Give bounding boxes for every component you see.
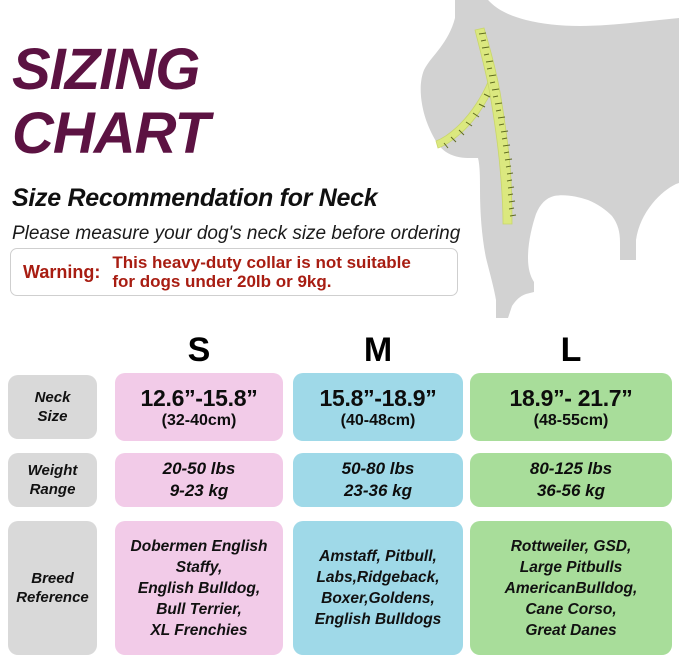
neck-size-range-medium: 15.8”-18.9” bbox=[320, 385, 437, 411]
header-block: SIZING CHART Size Recommendation for Nec… bbox=[0, 0, 470, 245]
table-row-weight-range: Weight Range 20-50 lbs 9-23 kg 50-80 lbs… bbox=[0, 453, 679, 521]
size-header-row: S M L bbox=[0, 332, 679, 372]
cell-breed-reference-large: Rottweiler, GSD, Large Pitbulls American… bbox=[470, 521, 672, 655]
row-label-neck-size: Neck Size bbox=[8, 375, 97, 439]
weight-kg-small: 9-23 kg bbox=[170, 480, 229, 502]
instruction-text: Please measure your dog's neck size befo… bbox=[0, 213, 470, 245]
warning-box: Warning: This heavy-duty collar is not s… bbox=[10, 248, 458, 296]
size-header-s: S bbox=[115, 332, 283, 368]
breed-line: Boxer,Goldens, bbox=[321, 588, 435, 609]
neck-size-metric-medium: (40-48cm) bbox=[341, 411, 416, 430]
breed-line: Cane Corso, bbox=[525, 599, 616, 620]
breed-line: Dobermen English bbox=[131, 536, 268, 557]
breed-line: Labs,Ridgeback, bbox=[316, 567, 439, 588]
row-label-line2: Reference bbox=[16, 588, 89, 607]
cell-neck-size-small: 12.6”-15.8” (32-40cm) bbox=[115, 373, 283, 441]
breed-line: English Bulldogs bbox=[315, 609, 442, 630]
cell-weight-range-medium: 50-80 lbs 23-36 kg bbox=[293, 453, 463, 507]
cell-neck-size-medium: 15.8”-18.9” (40-48cm) bbox=[293, 373, 463, 441]
weight-kg-medium: 23-36 kg bbox=[344, 480, 412, 502]
row-label-line2: Range bbox=[30, 480, 76, 499]
breed-line: Large Pitbulls bbox=[520, 557, 623, 578]
breed-line: Staffy, bbox=[176, 557, 223, 578]
breed-line: Rottweiler, GSD, bbox=[511, 536, 632, 557]
size-header-m: M bbox=[293, 332, 463, 368]
weight-kg-large: 36-56 kg bbox=[537, 480, 605, 502]
row-label-weight-range: Weight Range bbox=[8, 453, 97, 507]
table-row-breed-reference: Breed Reference Dobermen English Staffy,… bbox=[0, 521, 679, 661]
subtitle: Size Recommendation for Neck bbox=[0, 164, 470, 213]
row-label-line1: Weight bbox=[28, 461, 78, 480]
warning-message-line1: This heavy-duty collar is not suitable bbox=[112, 253, 411, 272]
warning-message-line2: for dogs under 20lb or 9kg. bbox=[112, 272, 411, 291]
neck-size-metric-large: (48-55cm) bbox=[534, 411, 609, 430]
breed-line: Amstaff, Pitbull, bbox=[319, 546, 437, 567]
table-row-neck-size: Neck Size 12.6”-15.8” (32-40cm) 15.8”-18… bbox=[0, 373, 679, 453]
row-label-line1: Breed bbox=[31, 569, 74, 588]
row-label-line1: Neck bbox=[35, 388, 71, 407]
page-title-line1: SIZING bbox=[0, 0, 470, 100]
breed-line: Bull Terrier, bbox=[156, 599, 242, 620]
neck-size-range-small: 12.6”-15.8” bbox=[141, 385, 258, 411]
row-label-breed-reference: Breed Reference bbox=[8, 521, 97, 655]
size-header-l: L bbox=[470, 332, 672, 368]
breed-line: English Bulldog, bbox=[138, 578, 260, 599]
neck-size-metric-small: (32-40cm) bbox=[162, 411, 237, 430]
page-title-line2: CHART bbox=[0, 100, 470, 164]
cell-breed-reference-medium: Amstaff, Pitbull, Labs,Ridgeback, Boxer,… bbox=[293, 521, 463, 655]
row-label-line2: Size bbox=[37, 407, 67, 426]
weight-lbs-large: 80-125 lbs bbox=[530, 458, 612, 480]
breed-line: Great Danes bbox=[525, 620, 616, 641]
warning-label: Warning: bbox=[11, 262, 100, 283]
breed-line: XL Frenchies bbox=[150, 620, 247, 641]
sizing-table: Neck Size 12.6”-15.8” (32-40cm) 15.8”-18… bbox=[0, 373, 679, 661]
warning-message: This heavy-duty collar is not suitable f… bbox=[100, 253, 411, 291]
cell-weight-range-small: 20-50 lbs 9-23 kg bbox=[115, 453, 283, 507]
weight-lbs-small: 20-50 lbs bbox=[163, 458, 236, 480]
cell-neck-size-large: 18.9”- 21.7” (48-55cm) bbox=[470, 373, 672, 441]
weight-lbs-medium: 50-80 lbs bbox=[342, 458, 415, 480]
cell-breed-reference-small: Dobermen English Staffy, English Bulldog… bbox=[115, 521, 283, 655]
cell-weight-range-large: 80-125 lbs 36-56 kg bbox=[470, 453, 672, 507]
neck-size-range-large: 18.9”- 21.7” bbox=[510, 385, 633, 411]
breed-line: AmericanBulldog, bbox=[505, 578, 638, 599]
